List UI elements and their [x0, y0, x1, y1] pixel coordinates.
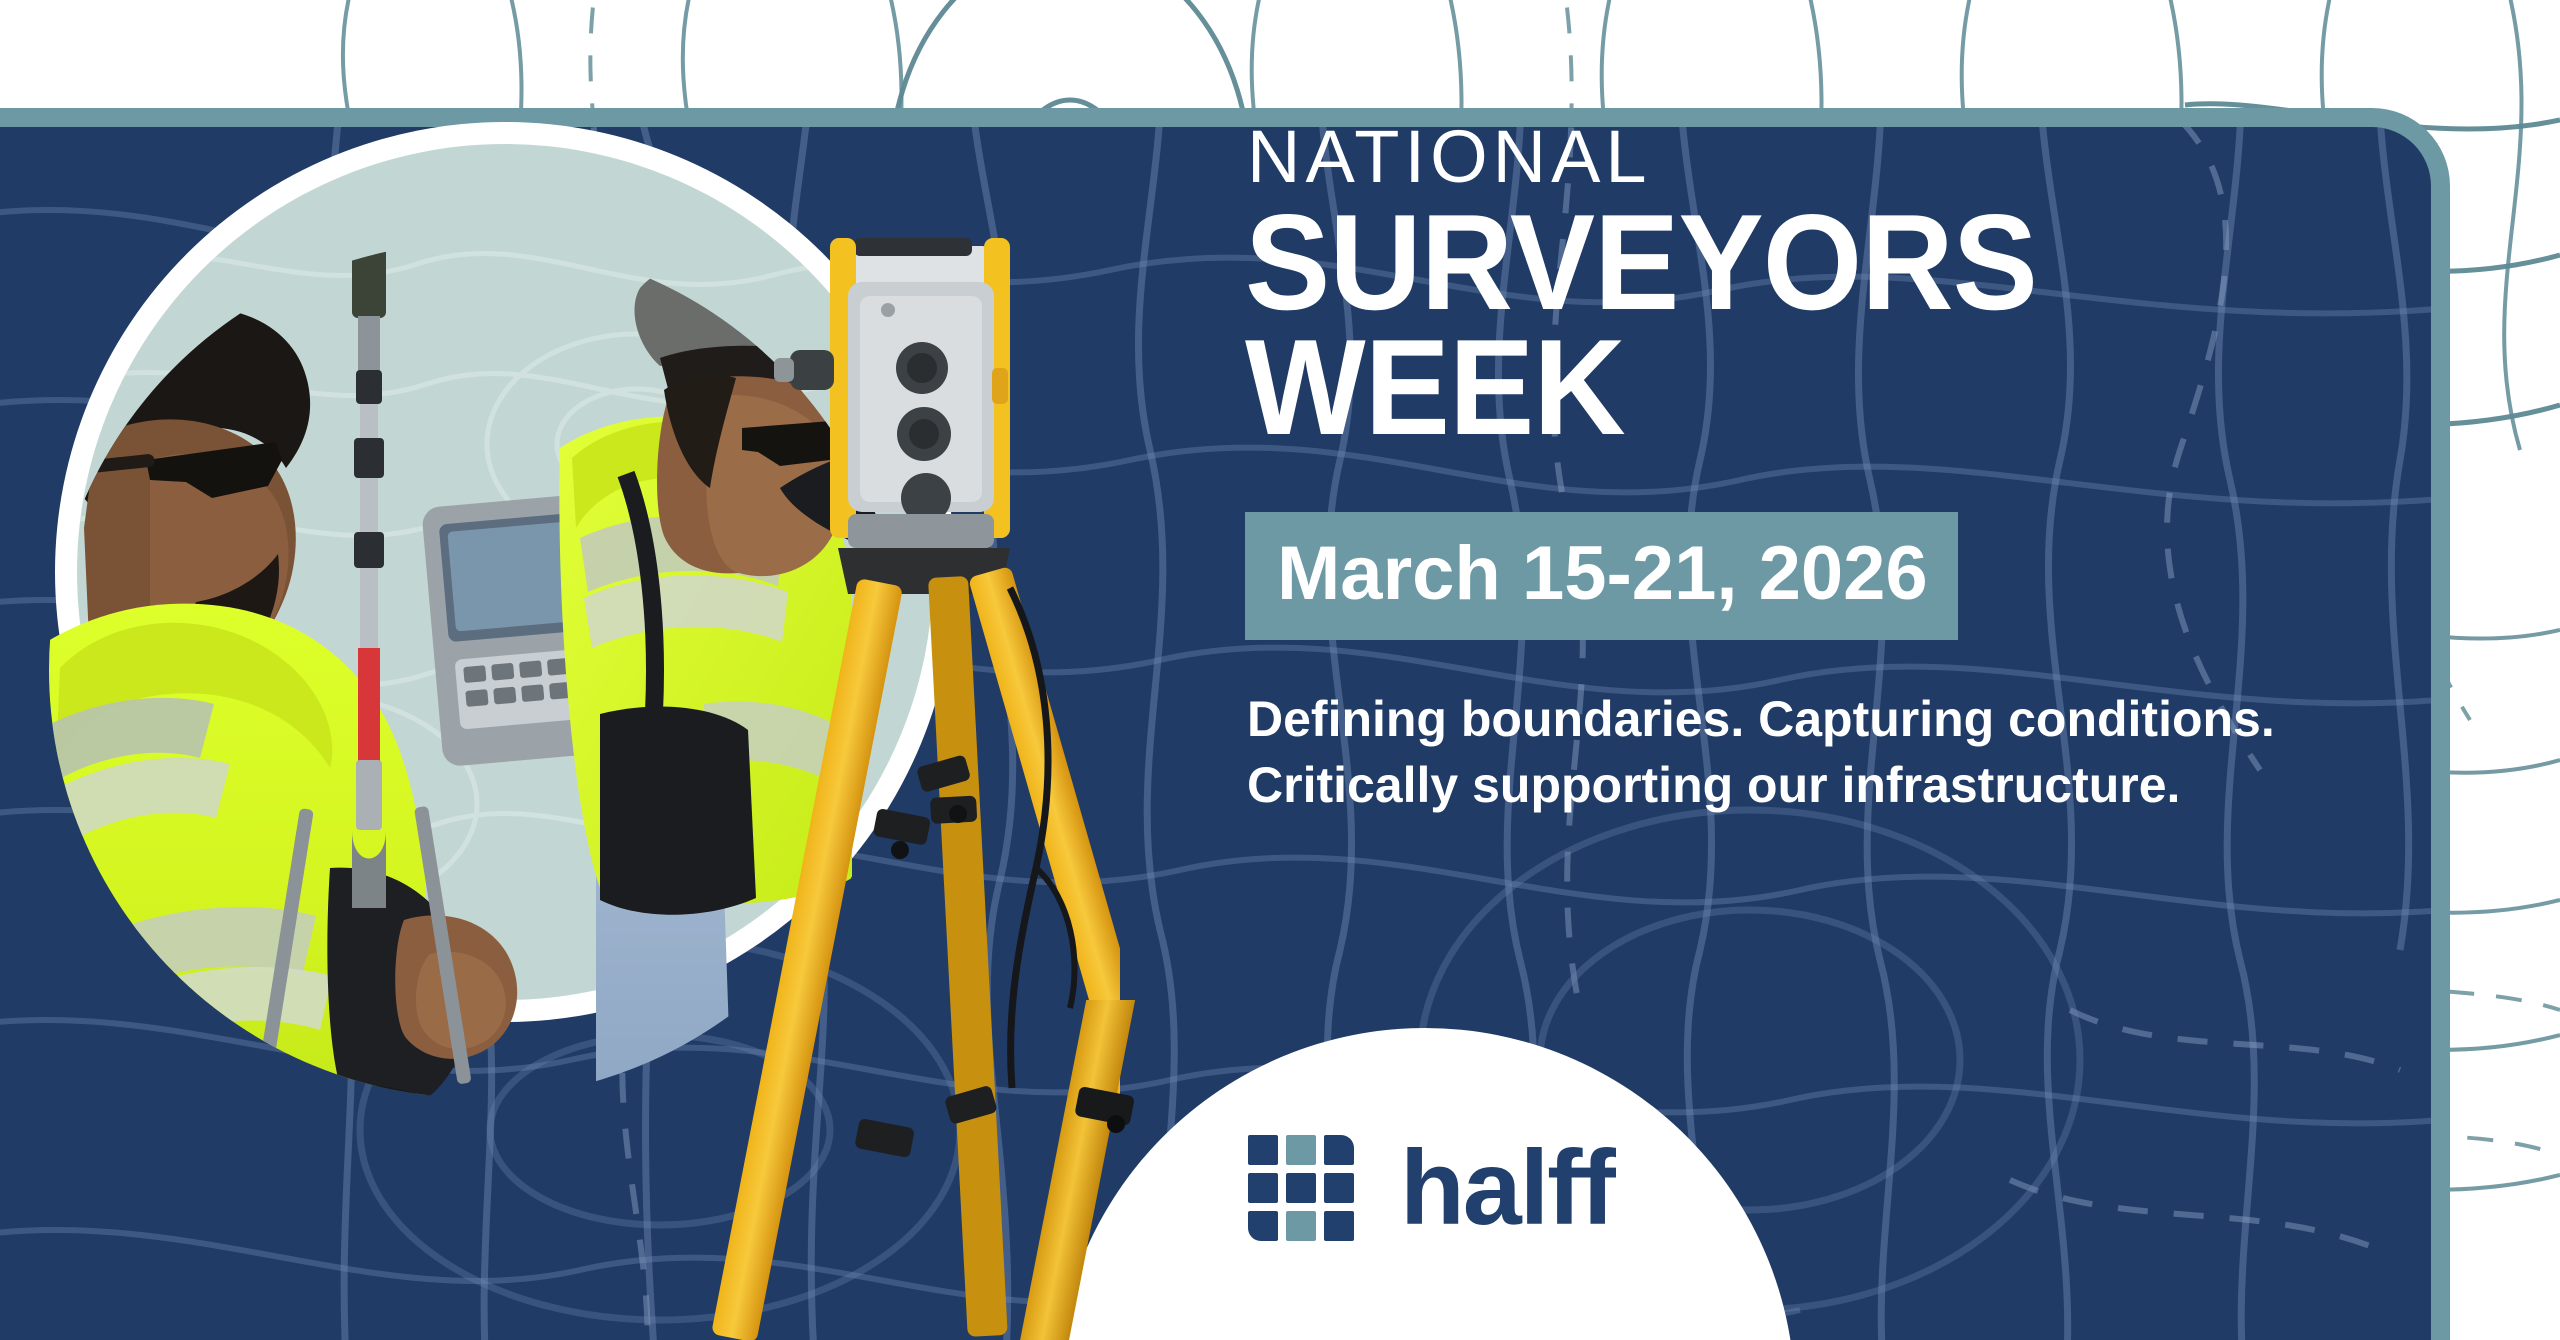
tagline: Defining boundaries. Capturing condition… — [1247, 686, 2445, 818]
tripod-leg-foreground — [1020, 1000, 1280, 1340]
logo-cell-top-center — [1286, 1135, 1316, 1165]
kicker-national: NATIONAL — [1247, 120, 2445, 194]
tagline-line-1: Defining boundaries. Capturing condition… — [1247, 686, 2445, 752]
halff-wordmark: halff — [1400, 1135, 1614, 1241]
halff-logo[interactable]: halff — [1248, 1135, 1614, 1241]
logo-cell-middle-right — [1324, 1173, 1354, 1203]
date-badge: March 15-21, 2026 — [1245, 512, 1958, 640]
logo-cell-top-right — [1324, 1135, 1354, 1165]
page-title: SURVEYORS WEEK — [1245, 204, 2373, 446]
photo-scene — [0, 108, 1120, 1340]
headline-block: NATIONAL SURVEYORS WEEK March 15-21, 202… — [1245, 120, 2445, 818]
logo-cell-bottom-right — [1324, 1211, 1354, 1241]
logo-cell-middle-center — [1286, 1173, 1316, 1203]
poster-canvas: NATIONAL SURVEYORS WEEK March 15-21, 202… — [0, 0, 2560, 1340]
tagline-line-2: Critically supporting our infrastructure… — [1247, 752, 2445, 818]
headline-line-2: WEEK — [1245, 329, 2373, 446]
logo-cell-bottom-center — [1286, 1211, 1316, 1241]
